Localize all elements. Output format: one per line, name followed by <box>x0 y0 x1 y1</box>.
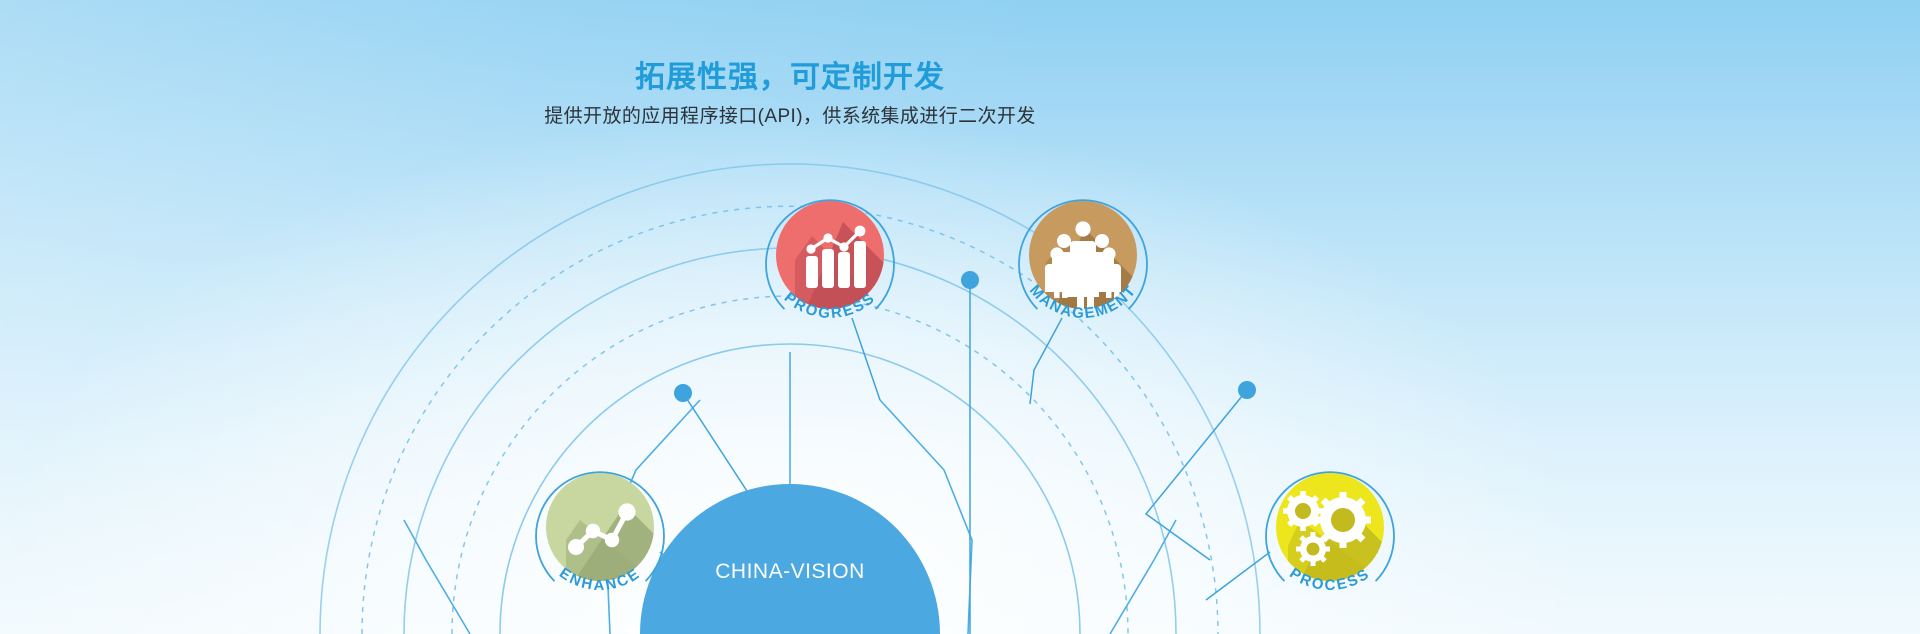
page-subtitle: 提供开放的应用程序接口(API)，供系统集成进行二次开发 <box>0 101 1750 128</box>
node-management[interactable]: MANAGEMENT <box>1019 200 1147 322</box>
hub-label: CHINA-VISION <box>715 560 865 583</box>
connector-management <box>1030 318 1062 404</box>
node-enhance[interactable]: ENHANCE <box>536 472 664 594</box>
spoke-left-1 <box>404 520 470 634</box>
connector-dot-left-marker <box>674 384 692 402</box>
node-progress[interactable]: PROGRESS <box>766 200 894 322</box>
connector-dot-right-marker <box>1238 381 1256 399</box>
banner-root: CHINA-VISION <box>0 0 1920 634</box>
connector-dot-center-marker <box>961 271 979 289</box>
connector-progress <box>852 318 880 400</box>
hub-node[interactable]: CHINA-VISION <box>640 484 940 634</box>
page-title: 拓展性强，可定制开发 <box>0 52 1750 96</box>
spoke-right-1 <box>1110 520 1176 634</box>
node-process[interactable]: PROCESS <box>1266 472 1394 594</box>
hub-circle <box>640 484 940 634</box>
connector-process <box>1206 552 1270 600</box>
